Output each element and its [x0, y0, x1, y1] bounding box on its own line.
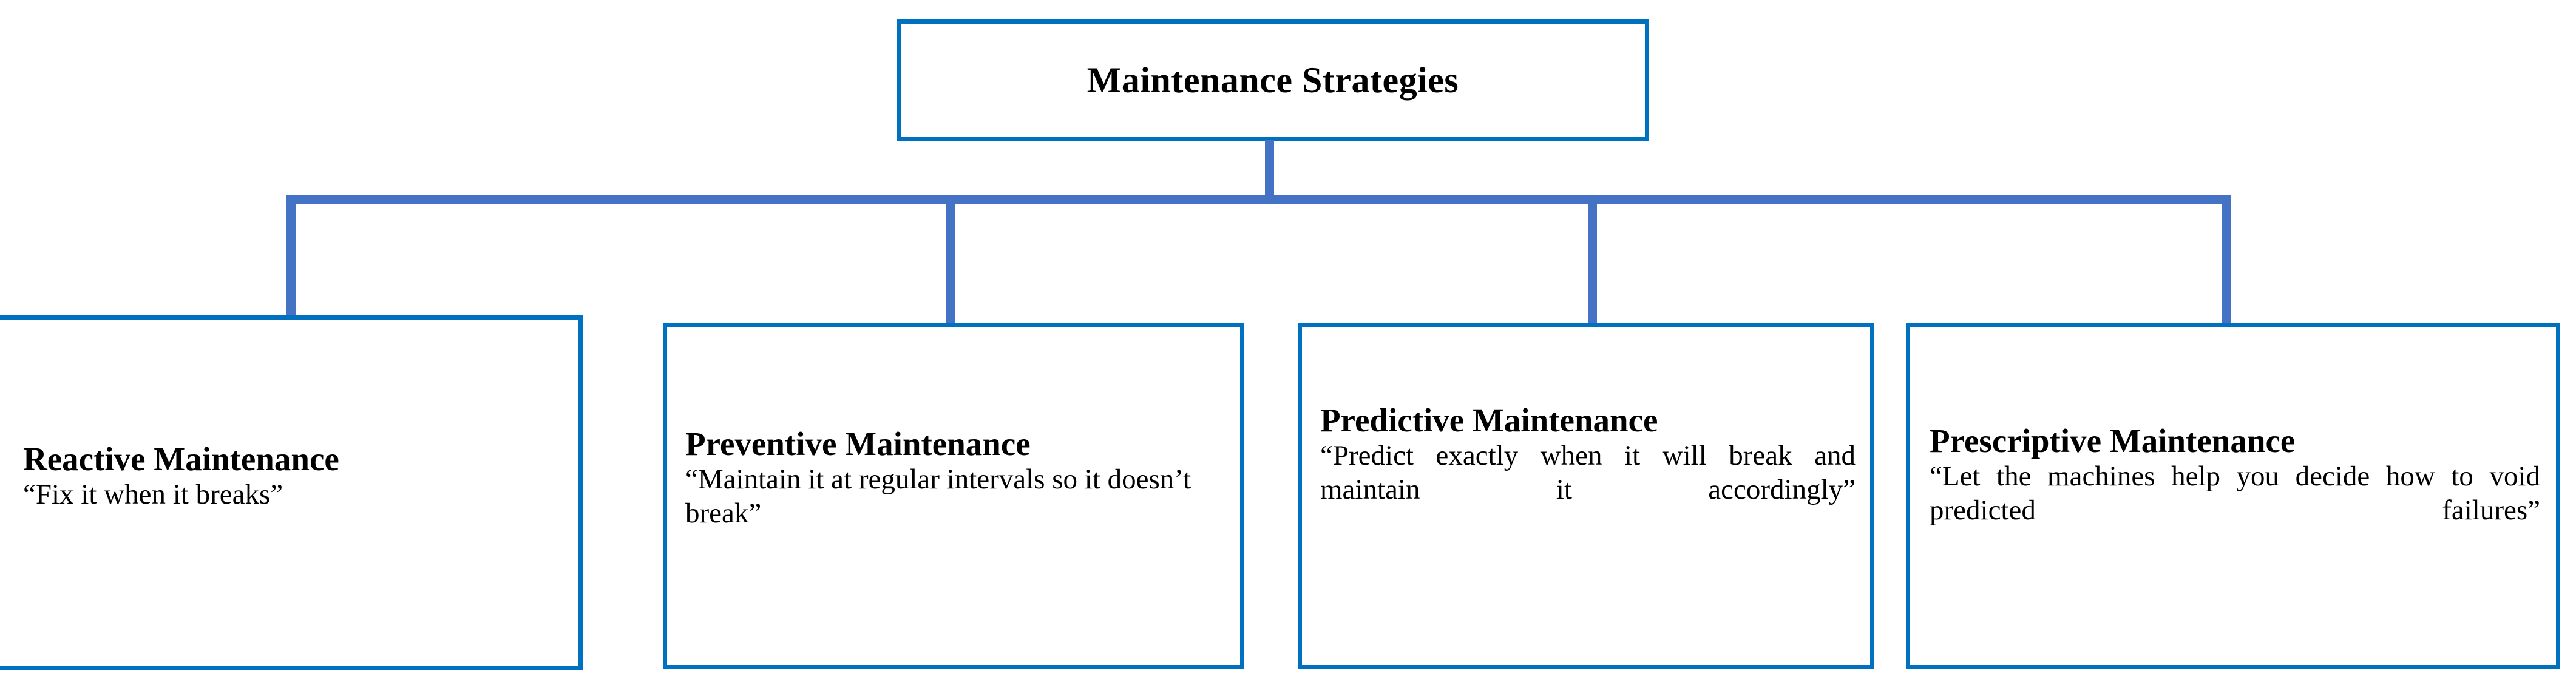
node-reactive-maintenance: Reactive Maintenance “Fix it when it bre…	[0, 315, 583, 670]
root-node-maintenance-strategies: Maintenance Strategies	[897, 19, 1649, 141]
connector-drop-predictive	[1588, 195, 1597, 325]
node-title-reactive: Reactive Maintenance	[23, 441, 563, 477]
connector-drop-preventive	[946, 195, 955, 325]
connector-drop-reactive	[286, 195, 296, 318]
node-predictive-maintenance: Predictive Maintenance “Predict exactly …	[1298, 323, 1874, 669]
connector-drop-prescriptive	[2222, 195, 2231, 325]
connector-root-stem	[1265, 140, 1274, 198]
maintenance-strategies-diagram: Maintenance Strategies Reactive Maintena…	[0, 0, 2576, 691]
node-quote-reactive: “Fix it when it breaks”	[23, 478, 563, 511]
node-quote-prescriptive: “Let the machines help you decide how to…	[1930, 460, 2540, 561]
node-quote-predictive: “Predict exactly when it will break and …	[1320, 439, 1856, 540]
node-content: Reactive Maintenance “Fix it when it bre…	[0, 441, 578, 512]
connector-horizontal-bus	[288, 195, 2231, 204]
node-title-prescriptive: Prescriptive Maintenance	[1930, 423, 2540, 459]
root-node-title: Maintenance Strategies	[1087, 59, 1459, 101]
node-prescriptive-maintenance: Prescriptive Maintenance “Let the machin…	[1906, 323, 2560, 669]
node-title-predictive: Predictive Maintenance	[1320, 402, 1856, 438]
node-preventive-maintenance: Preventive Maintenance “Maintain it at r…	[663, 323, 1244, 669]
node-content: Prescriptive Maintenance “Let the machin…	[1910, 423, 2556, 561]
node-content: Predictive Maintenance “Predict exactly …	[1302, 402, 1870, 541]
node-title-preventive: Preventive Maintenance	[685, 426, 1227, 462]
node-content: Preventive Maintenance “Maintain it at r…	[667, 426, 1240, 530]
node-quote-preventive: “Maintain it at regular intervals so it …	[685, 463, 1227, 530]
